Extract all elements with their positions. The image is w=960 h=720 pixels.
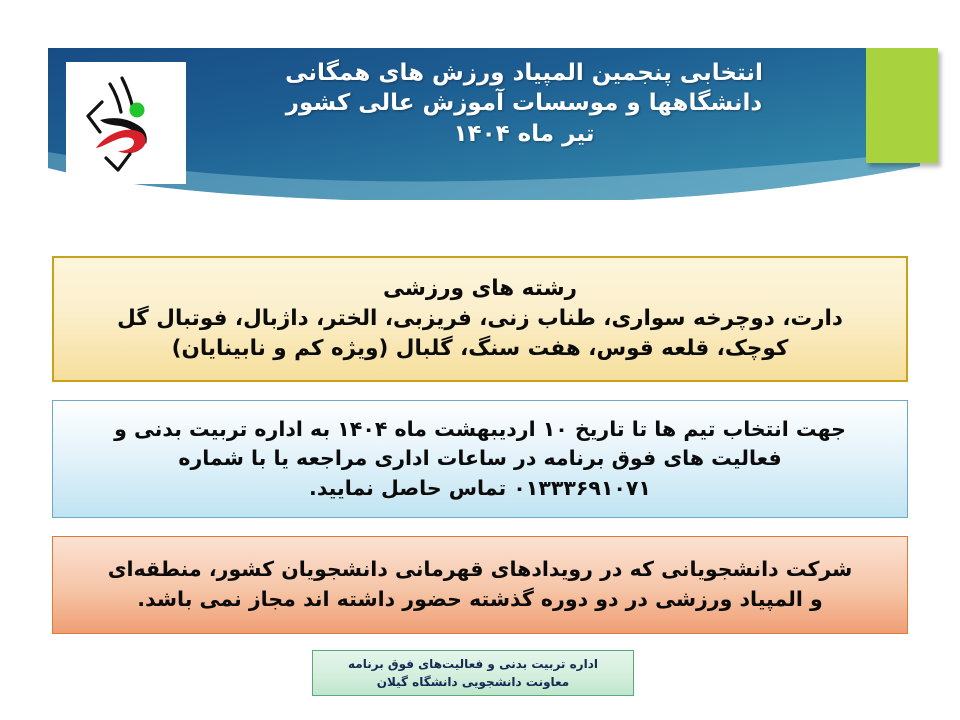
sports-box-heading: رشته های ورزشی [64, 274, 896, 304]
poster-slide: انتخابی پنجمین المپیاد ورزش های همگانی د… [0, 0, 960, 720]
green-accent-block [866, 48, 938, 163]
header-banner: انتخابی پنجمین المپیاد ورزش های همگانی د… [48, 48, 920, 200]
rule-box-line-1: شرکت دانشجویانی که در رویدادهای قهرمانی … [67, 555, 893, 585]
logo-figure-icon [66, 62, 186, 184]
registration-contact-box: جهت انتخاب تیم ها تا تاریخ ۱۰ اردیبهشت م… [52, 400, 908, 518]
contact-box-line-1: جهت انتخاب تیم ها تا تاریخ ۱۰ اردیبهشت م… [67, 415, 893, 445]
sports-box-line-1: دارت، دوچرخه سواری، طناب زنی، فریزبی، ال… [64, 304, 896, 334]
eligibility-rule-box: شرکت دانشجویانی که در رویدادهای قهرمانی … [52, 536, 908, 634]
poster-title-line-3: تیر ماه ۱۴۰۴ [194, 119, 854, 149]
poster-title-line-1: انتخابی پنجمین المپیاد ورزش های همگانی [194, 58, 854, 88]
rule-box-line-2: و المپیاد ورزشی در دو دوره گذشته حضور دا… [67, 585, 893, 615]
issuing-office-footer: اداره تربیت بدنی و فعالیت‌های فوق برنامه… [312, 650, 634, 696]
contact-box-line-3: ۰۱۳۳۳۶۹۱۰۷۱ تماس حاصل نمایید. [67, 474, 893, 504]
sports-box-line-2: کوچک، قلعه قوس، هفت سنگ، گلبال (ویژه کم … [64, 334, 896, 364]
poster-title: انتخابی پنجمین المپیاد ورزش های همگانی د… [194, 58, 854, 149]
poster-title-line-2: دانشگاهها و موسسات آموزش عالی کشور [194, 88, 854, 118]
footer-line-2: معاونت دانشجویی دانشگاه گیلان [319, 673, 627, 691]
footer-line-1: اداره تربیت بدنی و فعالیت‌های فوق برنامه [319, 655, 627, 673]
contact-box-line-2: فعالیت های فوق برنامه در ساعات اداری مرا… [67, 444, 893, 474]
sports-disciplines-box: رشته های ورزشی دارت، دوچرخه سواری، طناب … [52, 256, 908, 382]
olympiad-logo [66, 62, 186, 184]
